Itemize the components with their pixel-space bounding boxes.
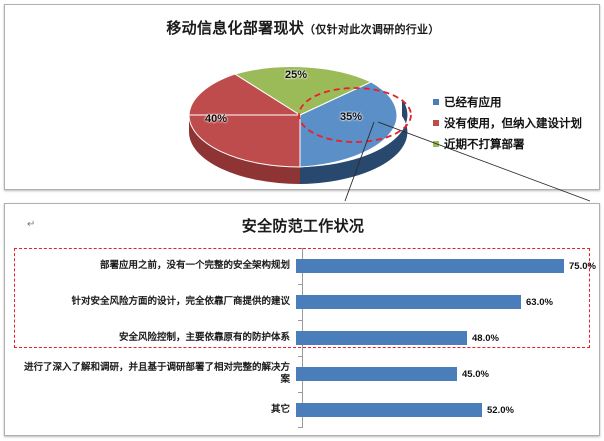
bar-value-label: 45.0% <box>462 369 489 380</box>
bar-row: 部署应用之前，没有一个完整的安全架构规划 75.0% <box>15 248 591 284</box>
pie-label-blue: 35% <box>340 111 362 123</box>
legend-swatch-icon <box>433 141 439 147</box>
legend-label: 已经有应用 <box>444 94 502 110</box>
bar-value-label: 52.0% <box>487 405 514 416</box>
bar-fill <box>296 295 521 309</box>
bar-category-label: 部署应用之前，没有一个完整的安全架构规划 <box>15 260 296 272</box>
legend-label: 近期不打算部署 <box>444 136 525 152</box>
bar-category-label: 其它 <box>15 404 296 416</box>
slide-canvas: 移动信息化部署现状（仅针对此次调研的行业） <box>0 0 604 441</box>
bar-fill <box>296 403 482 417</box>
pie-legend: 已经有应用 没有使用，但纳入建设计划 近期不打算部署 <box>433 91 582 154</box>
bar-value-label: 75.0% <box>569 261 596 272</box>
bar-track: 75.0% <box>296 248 596 284</box>
legend-label: 没有使用，但纳入建设计划 <box>444 115 582 131</box>
pie-chart-title-sub: （仅针对此次调研的行业） <box>304 24 440 36</box>
pie-chart-title: 移动信息化部署现状（仅针对此次调研的行业） <box>5 17 601 38</box>
bar-track: 45.0% <box>296 356 591 392</box>
bar-chart-panel: ↵ 安全防范工作状况 部署应用之前，没有一个完整的安全架构规划 75.0% 针对… <box>4 203 600 436</box>
bar-value-label: 63.0% <box>526 297 553 308</box>
legend-item-2: 近期不打算部署 <box>433 133 582 154</box>
legend-item-0: 已经有应用 <box>433 91 582 112</box>
legend-swatch-icon <box>433 99 439 105</box>
bar-row: 进行了深入了解和调研，并且基于调研部署了相对完整的解决方案 45.0% <box>15 356 591 392</box>
pie-label-red: 40% <box>205 113 227 125</box>
bar-fill <box>296 367 457 381</box>
bar-row: 安全风险控制，主要依靠原有的防护体系 48.0% <box>15 320 591 356</box>
legend-swatch-icon <box>433 120 439 126</box>
bar-track: 63.0% <box>296 284 591 320</box>
pie-chart-panel: 移动信息化部署现状（仅针对此次调研的行业） <box>4 4 600 190</box>
bar-category-label: 进行了深入了解和调研，并且基于调研部署了相对完整的解决方案 <box>15 362 296 386</box>
bar-category-label: 针对安全风险方面的设计，完全依靠厂商提供的建议 <box>15 296 296 308</box>
bar-fill <box>296 331 467 345</box>
bar-chart-plot: 部署应用之前，没有一个完整的安全架构规划 75.0% 针对安全风险方面的设计，完… <box>15 248 591 428</box>
bar-row: 针对安全风险方面的设计，完全依靠厂商提供的建议 63.0% <box>15 284 591 320</box>
bar-track: 52.0% <box>296 392 591 428</box>
bar-value-label: 48.0% <box>472 333 499 344</box>
bar-category-label: 安全风险控制，主要依靠原有的防护体系 <box>15 332 296 344</box>
pie-label-green: 25% <box>285 69 307 81</box>
bar-row: 其它 52.0% <box>15 392 591 428</box>
bar-track: 48.0% <box>296 320 591 356</box>
bar-chart-title: 安全防范工作状况 <box>5 215 601 236</box>
legend-item-1: 没有使用，但纳入建设计划 <box>433 112 582 133</box>
pie-chart-title-main: 移动信息化部署现状 <box>166 20 304 37</box>
bar-fill <box>296 259 564 273</box>
pie-chart-graphic: 35% 40% 25% <box>175 53 425 188</box>
